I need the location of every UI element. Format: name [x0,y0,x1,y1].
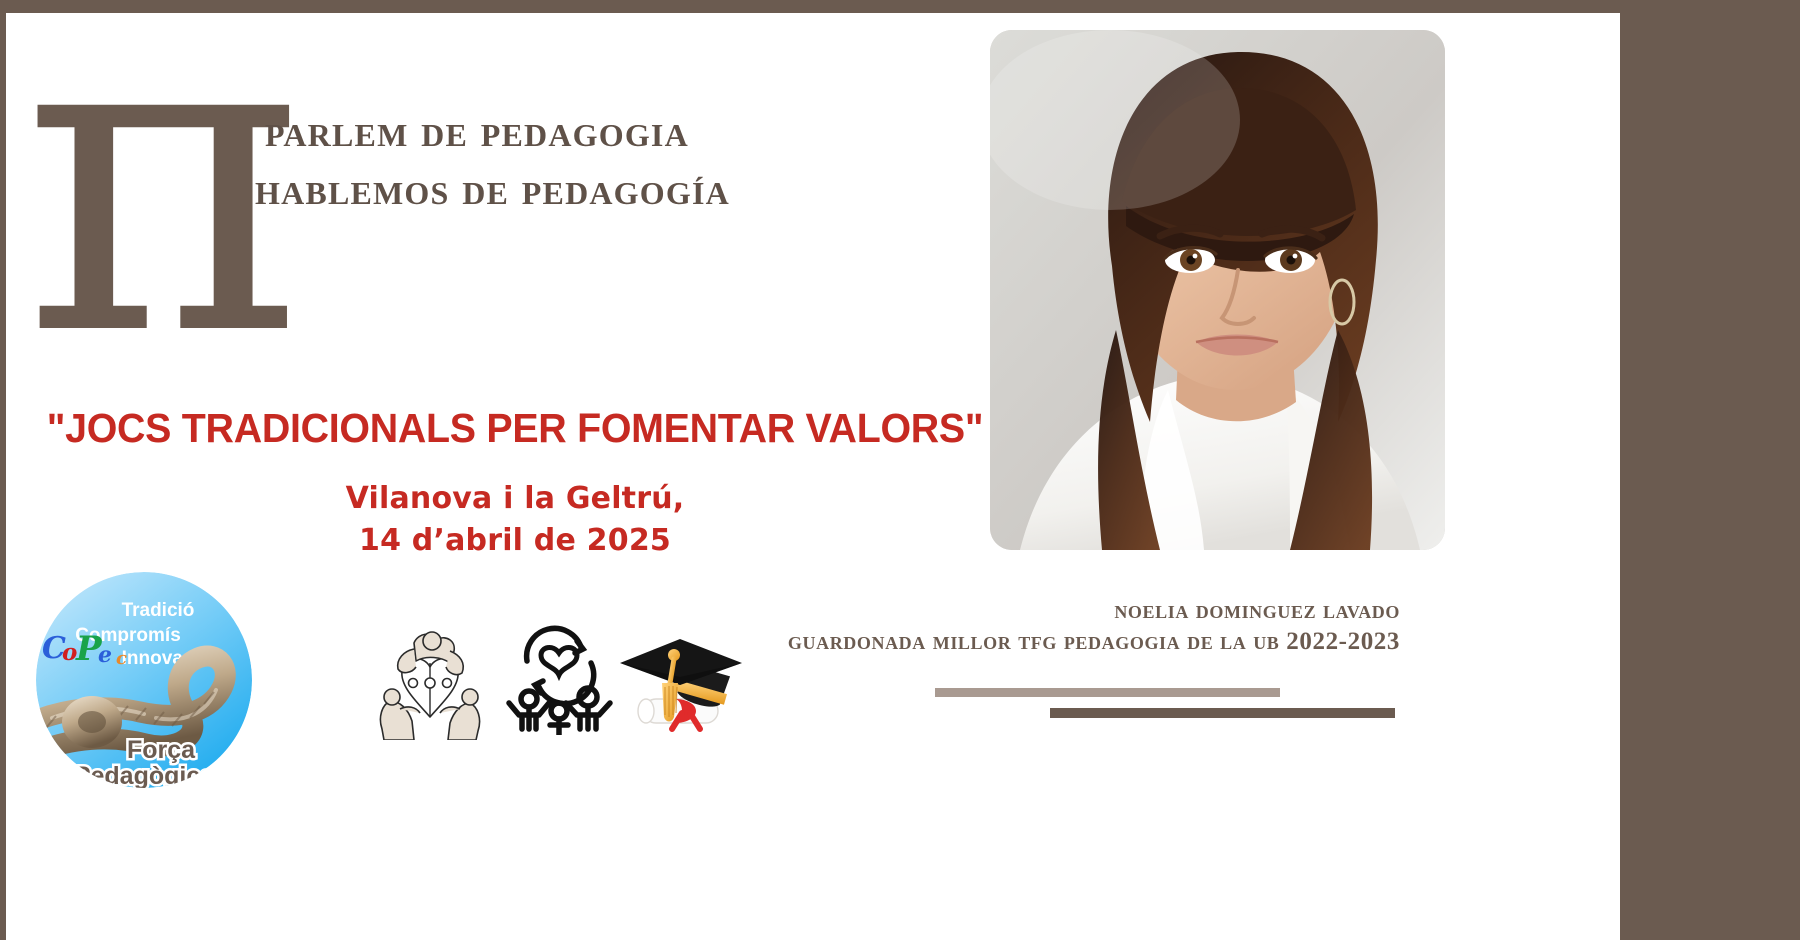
svg-text:c: c [116,648,127,669]
speaker-photo [990,30,1445,550]
light-accent-bar [935,688,1280,697]
event-place-date: Vilanova i la Geltrú, 14 d’abril de 2025 [0,478,1030,562]
svg-text:e: e [98,642,112,668]
people-heart-puzzle-icon [370,625,490,740]
poster-canvas: π Parlem de Pedagogia Hablemos de Pedago… [0,0,1800,940]
header-title-catalan: Parlem de Pedagogia [265,100,689,162]
copec-logo: Tradició Compromís Innovació C o P e c [36,572,252,788]
svg-text:Força: Força [127,736,196,764]
svg-text:Tradició: Tradició [122,600,195,621]
card-left-border [0,8,6,940]
page-title: "JOCS TRADICIONALS PER FOMENTAR VALORS" [21,405,1010,452]
dark-accent-bar [1050,708,1395,718]
speaker-name: Noelia Dominguez Lavado [640,595,1400,626]
event-place: Vilanova i la Geltrú, [0,478,1030,520]
icon-row [370,625,760,740]
community-heart-icon [505,625,615,735]
graduation-cap-diploma-icon [610,625,750,735]
header-title-spanish: Hablemos de Pedagogía [255,158,730,220]
event-date: 14 d’abril de 2025 [0,520,1030,562]
